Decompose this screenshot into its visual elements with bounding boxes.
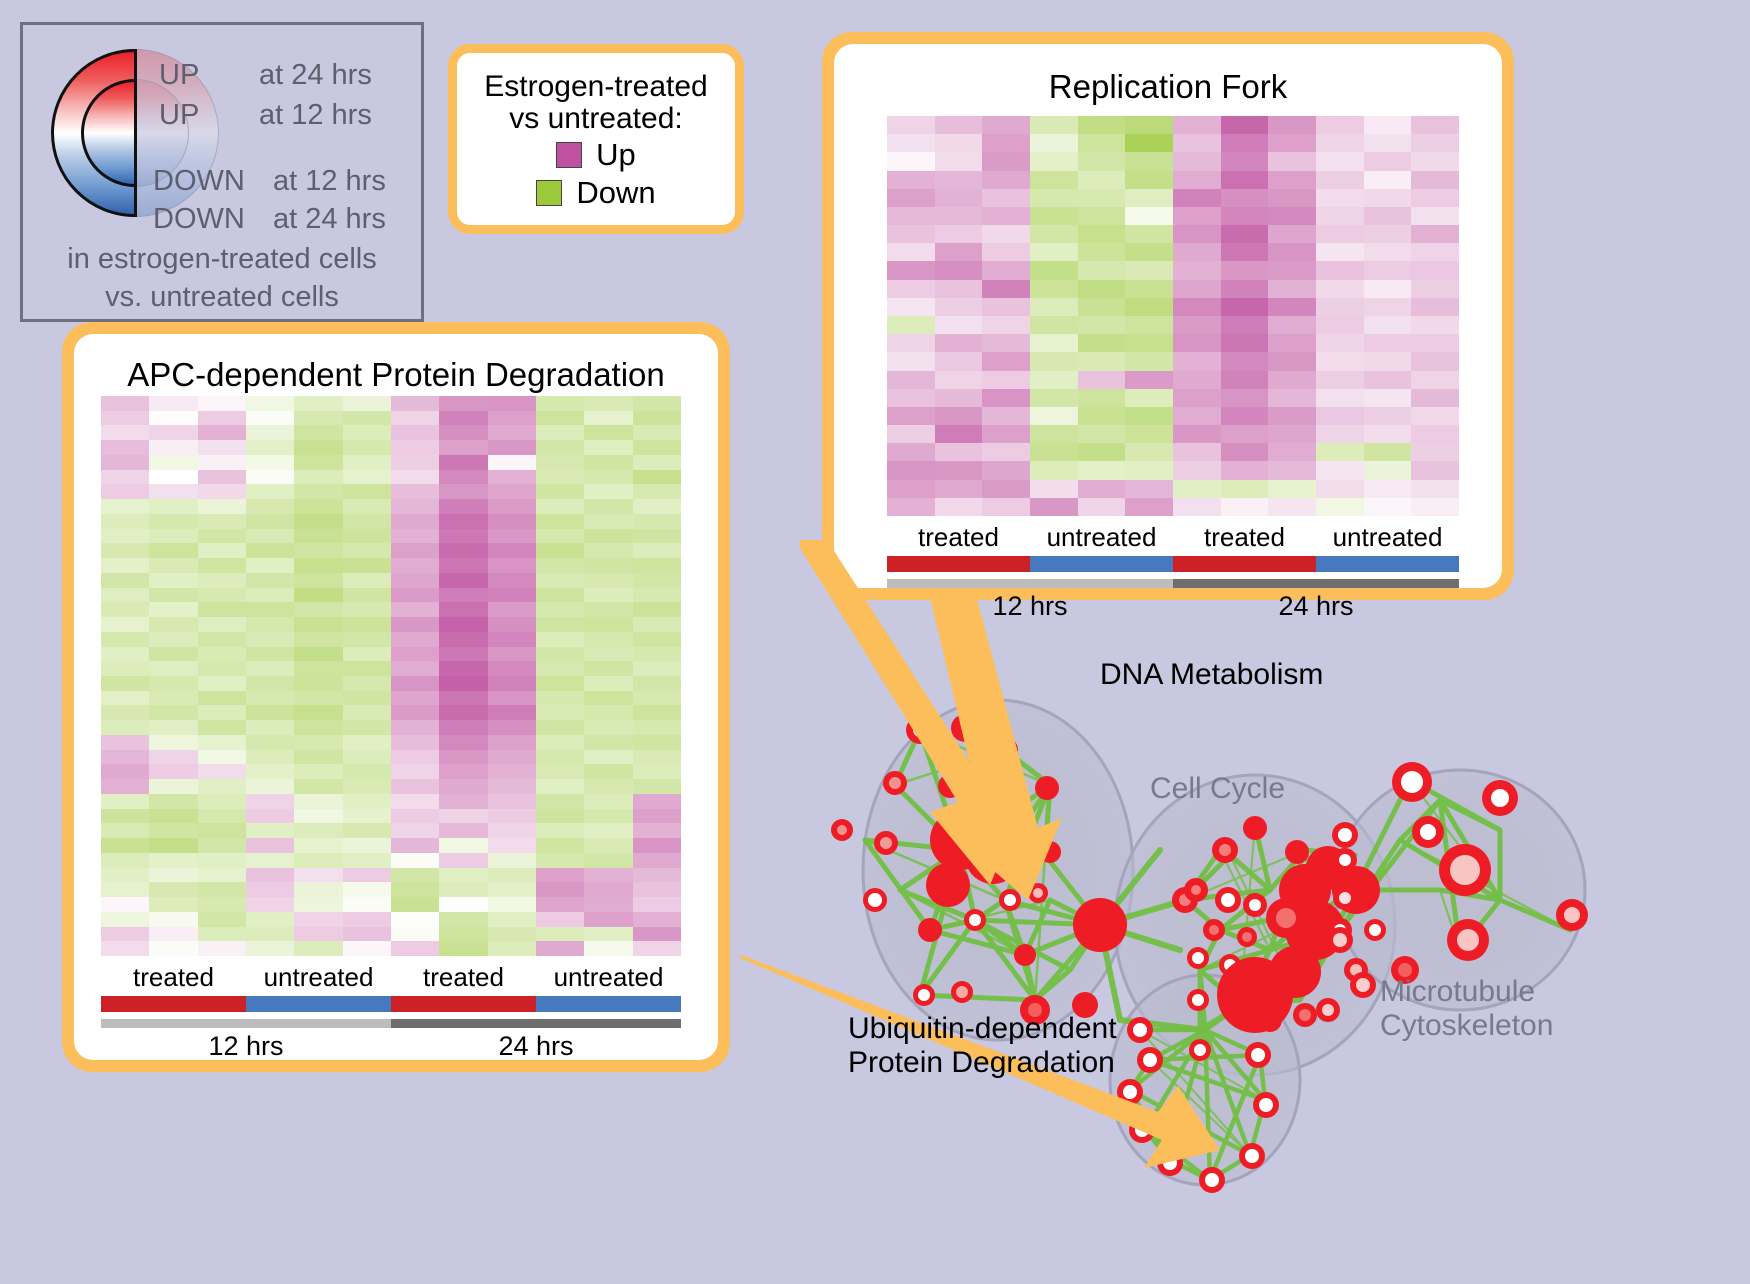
heatmap-cell — [1364, 134, 1412, 152]
heatmap-cell — [439, 927, 487, 942]
heatmap-cell — [149, 632, 197, 647]
heatmap-cell — [584, 543, 632, 558]
sample-bar-rf-2 — [1173, 556, 1316, 572]
heatmap-cell — [1173, 116, 1221, 134]
heatmap-cell — [198, 691, 246, 706]
heatmap-cell — [935, 461, 983, 479]
heatmap-cell — [1364, 352, 1412, 370]
heatmap-cell — [294, 499, 342, 514]
heatmap-cell — [633, 470, 681, 485]
heatmap-cell — [633, 440, 681, 455]
heatmap-cell — [439, 558, 487, 573]
heatmap-cell — [887, 116, 935, 134]
heatmap-cell — [488, 912, 536, 927]
heatmap-cell — [1316, 334, 1364, 352]
heatmap-cell — [1125, 152, 1173, 170]
heatmap-cell — [584, 691, 632, 706]
heatmap-cell — [1078, 352, 1126, 370]
heatmap-cell — [294, 676, 342, 691]
heatmap-cell — [633, 750, 681, 765]
heatmap-cell — [246, 455, 294, 470]
heatmap-cell — [935, 225, 983, 243]
heatmap-cell — [1221, 498, 1269, 516]
heatmap-cell — [246, 514, 294, 529]
heatmap-cell — [439, 588, 487, 603]
heatmap-cell — [439, 529, 487, 544]
heatmap-cell — [101, 794, 149, 809]
heatmap-cell — [1030, 243, 1078, 261]
key-caption-line2: vs. untreated cells — [23, 281, 421, 314]
heatmap-cell — [1030, 261, 1078, 279]
heatmap-cell — [633, 838, 681, 853]
heatmap-cell — [935, 152, 983, 170]
heatmap-cell — [343, 823, 391, 838]
heatmap-cell — [1125, 480, 1173, 498]
heatmap-cell — [633, 484, 681, 499]
heatmap-cell — [439, 794, 487, 809]
cluster-label-ubiquitin-line1: Ubiquitin-dependent — [848, 1012, 1117, 1046]
heatmap-cell — [1173, 280, 1221, 298]
heatmap-cell — [887, 352, 935, 370]
heatmap-cell — [1316, 225, 1364, 243]
heatmap-cell — [584, 470, 632, 485]
heatmap-cell — [246, 499, 294, 514]
heatmap-cell — [1364, 443, 1412, 461]
heatmap-cell — [1411, 334, 1459, 352]
heatmap-cell — [1364, 261, 1412, 279]
heatmap-cell — [584, 425, 632, 440]
heatmap-cell — [1030, 207, 1078, 225]
heatmap-cell — [1221, 152, 1269, 170]
heatmap-cell — [343, 396, 391, 411]
heatmap-cell — [488, 661, 536, 676]
heatmap-cell — [633, 514, 681, 529]
heatmap-cell — [391, 396, 439, 411]
heatmap-cell — [1078, 425, 1126, 443]
heatmap-cell — [439, 573, 487, 588]
heatmap-cell — [887, 334, 935, 352]
heatmap-cell — [343, 735, 391, 750]
heatmap-cell — [488, 853, 536, 868]
heatmap-cell — [536, 558, 584, 573]
heatmap-cell — [198, 558, 246, 573]
heatmap-cell — [1125, 425, 1173, 443]
heatmap-cell — [536, 470, 584, 485]
heatmap-cell — [1221, 461, 1269, 479]
heatmap-cell — [343, 720, 391, 735]
heatmap-cell — [1173, 152, 1221, 170]
heatmap-cell — [935, 480, 983, 498]
heatmap-cell — [1268, 243, 1316, 261]
heatmap-cell — [887, 207, 935, 225]
heatmap-cell — [198, 809, 246, 824]
heatmap-cell — [488, 647, 536, 662]
heatmap-cell — [536, 455, 584, 470]
heatmap-cell — [1078, 243, 1126, 261]
heatmap-cell — [294, 558, 342, 573]
heatmap-cell — [343, 809, 391, 824]
heatmap-cell — [343, 529, 391, 544]
heatmap-cell — [246, 691, 294, 706]
heatmap-cell — [149, 927, 197, 942]
heatmap-cell — [1125, 134, 1173, 152]
heatmap-cell — [294, 764, 342, 779]
heatmap-cell — [536, 823, 584, 838]
heatmap-cell — [343, 425, 391, 440]
heatmap-cell — [246, 573, 294, 588]
heatmap-cell — [982, 371, 1030, 389]
heatmap-cell — [149, 602, 197, 617]
heatmap-cell — [149, 543, 197, 558]
heatmap-cell — [149, 470, 197, 485]
heatmap-cell — [439, 779, 487, 794]
heatmap-cell — [101, 779, 149, 794]
heatmap-cell — [982, 298, 1030, 316]
heatmap-cell — [935, 334, 983, 352]
heatmap-cell — [439, 691, 487, 706]
heatmap-cell — [982, 171, 1030, 189]
heatmap-cell — [343, 941, 391, 956]
heatmap-cell — [488, 573, 536, 588]
heatmap-cell — [982, 352, 1030, 370]
heatmap-cell — [294, 543, 342, 558]
heatmap-cell — [198, 823, 246, 838]
heatmap-cell — [149, 440, 197, 455]
expression-key-box: UP at 24 hrs UP at 12 hrs DOWN at 12 hrs… — [20, 22, 424, 322]
heatmap-cell — [633, 588, 681, 603]
heatmap-cell — [246, 529, 294, 544]
heatmap-cell — [1316, 461, 1364, 479]
heatmap-cell — [294, 573, 342, 588]
heatmap-cell — [1173, 243, 1221, 261]
heatmap-cell — [198, 617, 246, 632]
heatmap-cell — [1221, 425, 1269, 443]
heatmap-cell — [391, 794, 439, 809]
heatmap-cell — [982, 389, 1030, 407]
heatmap-cell — [198, 779, 246, 794]
heatmap-cell — [536, 794, 584, 809]
heatmap-cell — [439, 764, 487, 779]
heatmap-cell — [343, 514, 391, 529]
heatmap-cell — [584, 676, 632, 691]
heatmap-cell — [1173, 425, 1221, 443]
heatmap-cell — [1173, 316, 1221, 334]
heatmap-cell — [343, 602, 391, 617]
heatmap-cell — [488, 529, 536, 544]
heatmap-cell — [101, 499, 149, 514]
heatmap-cell — [1316, 316, 1364, 334]
heatmap-cell — [439, 617, 487, 632]
heatmap-cell — [391, 602, 439, 617]
heatmap-cell — [1173, 352, 1221, 370]
heatmap-cell — [633, 764, 681, 779]
heatmap-cell — [1268, 171, 1316, 189]
heatmap-cell — [1125, 352, 1173, 370]
heatmap-cell — [536, 941, 584, 956]
heatmap-cell — [935, 280, 983, 298]
heatmap-cell — [1316, 134, 1364, 152]
heatmap-cell — [294, 455, 342, 470]
heatmap-cell — [198, 588, 246, 603]
heatmap-cell — [1316, 407, 1364, 425]
heatmap-cell — [488, 794, 536, 809]
sample-annotation-apc: treated untreated treated untreated 12 h — [101, 962, 681, 1062]
heatmap-cell — [246, 809, 294, 824]
sample-label-apc-1: untreated — [246, 962, 391, 993]
heatmap-cell — [391, 558, 439, 573]
heatmap-cell — [198, 735, 246, 750]
heatmap-cell — [488, 543, 536, 558]
heatmap-cell — [887, 480, 935, 498]
heatmap-cell — [488, 558, 536, 573]
heatmap-cell — [198, 853, 246, 868]
heatmap-cell — [101, 411, 149, 426]
heatmap-cell — [246, 661, 294, 676]
heatmap-cell — [294, 661, 342, 676]
heatmap-cell — [294, 602, 342, 617]
heatmap-cell — [439, 440, 487, 455]
heatmap-cell — [935, 352, 983, 370]
heatmap-cell — [391, 779, 439, 794]
heatmap-cell — [149, 396, 197, 411]
heatmap-cell — [633, 425, 681, 440]
heatmap-cell — [488, 411, 536, 426]
heatmap-cell — [149, 868, 197, 883]
heatmap-cell — [198, 676, 246, 691]
heatmap-cell — [1364, 407, 1412, 425]
heatmap-cell — [1173, 334, 1221, 352]
heatmap-cell — [1316, 189, 1364, 207]
heatmap-cell — [1125, 461, 1173, 479]
heatmap-cell — [536, 396, 584, 411]
heatmap-cell — [536, 868, 584, 883]
heatmap-cell — [1268, 280, 1316, 298]
heatmap-cell — [343, 838, 391, 853]
heatmap-cell — [584, 941, 632, 956]
heatmap-cell — [246, 632, 294, 647]
time-color-bar-rf — [887, 579, 1459, 588]
sample-label-rf-1: untreated — [1030, 522, 1173, 553]
heatmap-cell — [246, 588, 294, 603]
heatmap-cell — [101, 617, 149, 632]
heatmap-cell — [149, 558, 197, 573]
time-name-row-apc: 12 hrs 24 hrs — [101, 1031, 681, 1062]
heatmap-cell — [101, 573, 149, 588]
heatmap-cell — [1268, 480, 1316, 498]
heatmap-cell — [1030, 389, 1078, 407]
heatmap-cell — [1030, 316, 1078, 334]
heatmap-cell — [294, 691, 342, 706]
heatmap-cell — [439, 602, 487, 617]
heatmap-cell — [1268, 334, 1316, 352]
heatmap-cell — [633, 691, 681, 706]
heatmap-cell — [1364, 152, 1412, 170]
heatmap-cell — [1125, 207, 1173, 225]
heatmap-cell — [1411, 389, 1459, 407]
heatmap-cell — [633, 396, 681, 411]
heatmap-cell — [488, 499, 536, 514]
heatmap-cell — [1268, 261, 1316, 279]
heatmap-cell — [294, 897, 342, 912]
heatmap-cell — [149, 617, 197, 632]
heatmap-cell — [1173, 225, 1221, 243]
heatmap-cell — [391, 868, 439, 883]
heatmap-cell — [343, 676, 391, 691]
heatmap-cell — [1268, 389, 1316, 407]
heatmap-cell — [439, 455, 487, 470]
heatmap-cell — [439, 396, 487, 411]
heatmap-cell — [1125, 443, 1173, 461]
heatmap-cell — [101, 470, 149, 485]
heatmap-cell — [198, 868, 246, 883]
heatmap-cell — [1316, 280, 1364, 298]
heatmap-cell — [149, 705, 197, 720]
heatmap-cell — [246, 838, 294, 853]
heatmap-cell — [1125, 407, 1173, 425]
heatmap-cell — [935, 498, 983, 516]
heatmap-cell — [584, 514, 632, 529]
heatmap-cell — [246, 676, 294, 691]
heatmap-cell — [536, 897, 584, 912]
heatmap-cell — [1411, 425, 1459, 443]
heatmap-cell — [246, 794, 294, 809]
time-bar-rf-12 — [887, 579, 1173, 588]
heatmap-cell — [1364, 334, 1412, 352]
key-inner-up-time: at 12 hrs — [259, 99, 372, 132]
heatmap-cell — [1268, 298, 1316, 316]
heatmap-cell — [1221, 116, 1269, 134]
heatmap-cell — [887, 225, 935, 243]
sample-label-rf-3: untreated — [1316, 522, 1459, 553]
heatmap-cell — [488, 514, 536, 529]
heatmap-cell — [584, 750, 632, 765]
heatmap-cell — [1221, 371, 1269, 389]
heatmap-cell — [488, 764, 536, 779]
sample-bar-apc-2 — [391, 996, 536, 1012]
heatmap-cell — [391, 632, 439, 647]
heatmap-cell — [633, 676, 681, 691]
heatmap-cell — [1411, 243, 1459, 261]
heatmap-cell — [439, 705, 487, 720]
heatmap-cell — [391, 897, 439, 912]
heatmap-cell — [1364, 225, 1412, 243]
heatmap-cell — [1268, 443, 1316, 461]
cluster-label-ubiquitin: Ubiquitin-dependent Protein Degradation — [848, 1012, 1117, 1079]
heatmap-cell — [294, 927, 342, 942]
heatmap-cell — [536, 529, 584, 544]
heatmap-cell — [149, 720, 197, 735]
heatmap-cell — [982, 443, 1030, 461]
heatmap-cell — [439, 750, 487, 765]
heatmap-cell — [1221, 207, 1269, 225]
heatmap-cell — [1125, 389, 1173, 407]
sample-bar-apc-3 — [536, 996, 681, 1012]
heatmap-cell — [935, 116, 983, 134]
heatmap-cell — [198, 455, 246, 470]
heatmap-cell — [633, 720, 681, 735]
heatmap-cell — [439, 661, 487, 676]
heatmap-cell — [887, 152, 935, 170]
heatmap-cell — [536, 735, 584, 750]
heatmap-cell — [294, 411, 342, 426]
heatmap-cell — [536, 705, 584, 720]
heatmap-cell — [1411, 116, 1459, 134]
heatmap-cell — [149, 514, 197, 529]
heatmap-cell — [1221, 480, 1269, 498]
heatmap-cell — [294, 529, 342, 544]
heatmap-cell — [149, 750, 197, 765]
heatmap-cell — [294, 912, 342, 927]
heatmap-cell — [1030, 116, 1078, 134]
key-inner-down-time: at 12 hrs — [273, 165, 386, 198]
heatmap-cell — [1316, 498, 1364, 516]
heatmap-cell — [1173, 389, 1221, 407]
heatmap-cell — [343, 661, 391, 676]
heatmap-cell — [536, 411, 584, 426]
heatmap-cell — [343, 573, 391, 588]
heatmap-cell — [633, 779, 681, 794]
panel-title-apc: APC-dependent Protein Degradation — [74, 356, 718, 394]
heatmap-cell — [633, 411, 681, 426]
heatmap-cell — [246, 470, 294, 485]
heatmap-cell — [1364, 189, 1412, 207]
heatmap-cell — [536, 647, 584, 662]
heatmap-cell — [343, 647, 391, 662]
heatmap-cell — [198, 647, 246, 662]
heatmap-cell — [1125, 225, 1173, 243]
heatmap-cell — [633, 455, 681, 470]
heatmap-cell — [633, 602, 681, 617]
heatmap-cell — [101, 853, 149, 868]
heatmap-cell — [1173, 189, 1221, 207]
heatmap-cell — [633, 499, 681, 514]
heatmap-cell — [633, 882, 681, 897]
heatmap-cell — [198, 750, 246, 765]
heatmap-cell — [439, 470, 487, 485]
key-outer-up-label: UP — [159, 59, 199, 92]
heatmap-cell — [149, 794, 197, 809]
sample-label-apc-2: treated — [391, 962, 536, 993]
heatmap-cell — [1364, 280, 1412, 298]
heatmap-cell — [391, 941, 439, 956]
heatmap-cell — [887, 389, 935, 407]
heatmap-cell — [935, 207, 983, 225]
heatmap-cell — [149, 912, 197, 927]
heatmap-cell — [1411, 443, 1459, 461]
heatmap-cell — [294, 647, 342, 662]
heatmap-cell — [1078, 171, 1126, 189]
heatmap-cell — [584, 779, 632, 794]
heatmap-cell — [391, 588, 439, 603]
heatmap-cell — [198, 661, 246, 676]
heatmap-cell — [246, 823, 294, 838]
heatmap-cell — [391, 912, 439, 927]
heatmap-cell — [294, 484, 342, 499]
key-outer-down-time: at 24 hrs — [273, 203, 386, 236]
heatmap-cell — [887, 261, 935, 279]
heatmap-cell — [149, 941, 197, 956]
heatmap-cell — [488, 602, 536, 617]
heatmap-cell — [887, 280, 935, 298]
heatmap-cell — [1411, 189, 1459, 207]
heatmap-cell — [488, 868, 536, 883]
heatmap-cell — [633, 529, 681, 544]
heatmap-cell — [1364, 425, 1412, 443]
heatmap-cell — [633, 558, 681, 573]
heatmap-cell — [198, 632, 246, 647]
heatmap-cell — [633, 573, 681, 588]
heatmap-cell — [982, 134, 1030, 152]
